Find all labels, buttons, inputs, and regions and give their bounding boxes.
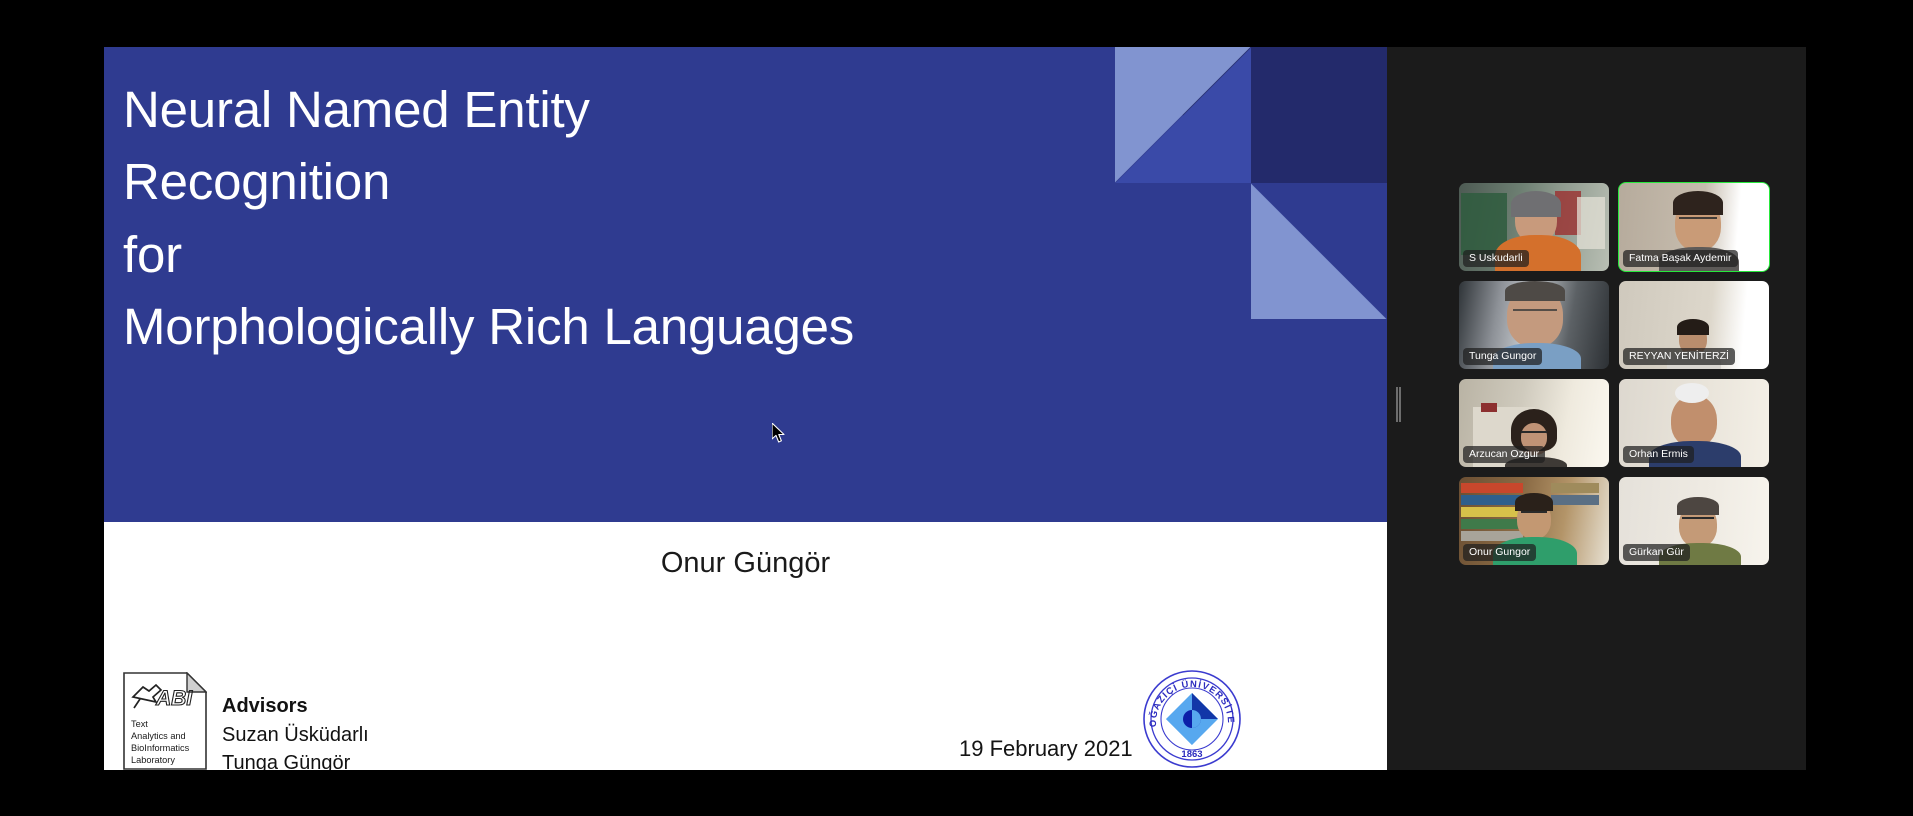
participant-tile-active-speaker[interactable]: Fatma Başak Aydemir [1619,183,1769,271]
participant-tile[interactable]: Arzucan Ozgur [1459,379,1609,467]
participant-name: Onur Gungor [1463,544,1536,561]
abi-line-4: Laboratory [131,755,175,765]
slide-title: Neural Named Entity Recognition for Morp… [123,74,1023,364]
participant-tile[interactable]: S Uskudarli [1459,183,1609,271]
participant-name: Arzucan Ozgur [1463,446,1545,463]
advisors-heading: Advisors [222,692,369,721]
participant-tile[interactable]: Onur Gungor [1459,477,1609,565]
abi-line-1: Text [131,719,148,729]
advisor-name-1: Suzan Üsküdarlı [222,721,369,750]
participant-name: S Uskudarli [1463,250,1529,267]
abi-line-3: BioInformatics [131,743,190,753]
shared-screen-stage[interactable]: Neural Named Entity Recognition for Morp… [104,47,1387,770]
screen-root: Neural Named Entity Recognition for Morp… [0,0,1913,816]
abi-lab-logo: ABI Text Analytics and BioInformatics La… [123,672,207,770]
participant-name: Orhan Ermis [1623,446,1694,463]
abi-line-2: Analytics and [131,731,186,741]
slide-date: 19 February 2021 [959,736,1133,762]
advisors-block: Advisors Suzan Üsküdarlı Tunga Güngör [222,692,369,770]
presentation-slide: Neural Named Entity Recognition for Morp… [104,47,1387,770]
decor-navy-square [1251,47,1387,183]
splitter-grip-icon[interactable] [1396,387,1401,422]
participant-tile[interactable]: Orhan Ermis [1619,379,1769,467]
decor-light-triangle-top [1115,47,1251,183]
participants-panel: S Uskudarli Fatma Başak Aydemir [1409,47,1806,770]
advisor-name-2: Tunga Güngör [222,749,369,770]
decor-light-triangle-bottom [1251,183,1387,319]
participant-name: Tunga Gungor [1463,348,1542,365]
participant-tile-grid: S Uskudarli Fatma Başak Aydemir [1459,183,1769,565]
participant-name: Gürkan Gür [1623,544,1690,561]
slide-title-band: Neural Named Entity Recognition for Morp… [104,47,1387,522]
meeting-window: Neural Named Entity Recognition for Morp… [104,47,1806,770]
abi-acronym: ABI [155,687,193,710]
slide-author-name: Onur Güngör [104,547,1387,580]
participant-tile[interactable]: Gürkan Gür [1619,477,1769,565]
panel-splitter[interactable] [1387,47,1409,770]
participant-name: Fatma Başak Aydemir [1623,250,1738,267]
participant-tile[interactable]: Tunga Gungor [1459,281,1609,369]
participant-name: REYYAN YENİTERZİ [1623,348,1735,365]
university-founding-year: 1863 [1181,749,1202,760]
bogazici-university-logo: BOĞAZİÇİ ÜNİVERSİTESİ 1863 [1142,669,1242,769]
participant-tile[interactable]: REYYAN YENİTERZİ [1619,281,1769,369]
